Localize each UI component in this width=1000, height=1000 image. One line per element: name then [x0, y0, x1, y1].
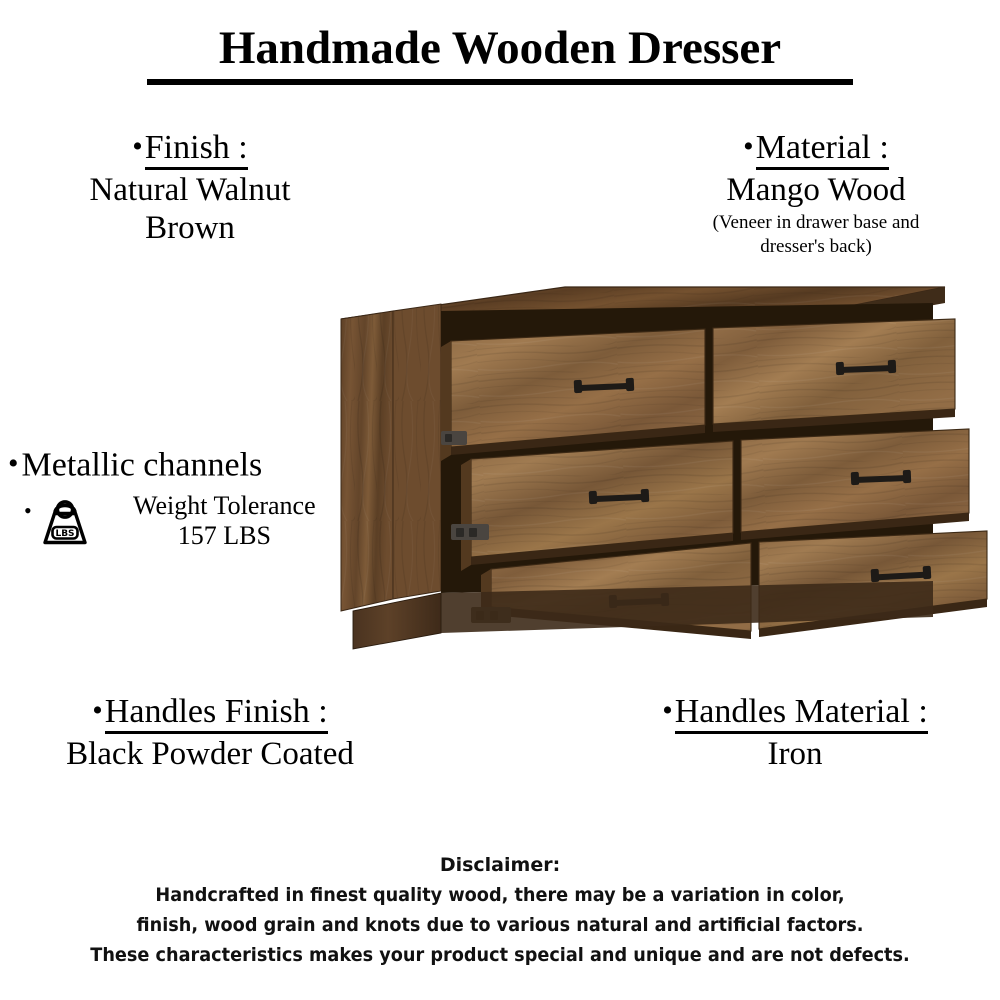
- product-image-dresser: [333, 281, 1000, 653]
- dresser-side-panel: [341, 304, 441, 611]
- feature-finish-value-line1: Natural Walnut: [10, 171, 370, 209]
- disclaimer-line-2: finish, wood grain and knots due to vari…: [35, 910, 965, 940]
- feature-material-label: Material :: [756, 129, 889, 170]
- feature-handles-material-label: Handles Material :: [675, 693, 928, 734]
- feature-finish-value-line2: Brown: [10, 209, 370, 247]
- feature-finish-heading: •Finish :: [10, 128, 370, 167]
- weight-tolerance-label: Weight Tolerance: [96, 491, 353, 521]
- drawer-middle-right: [741, 429, 969, 540]
- feature-channels-label: Metallic channels: [22, 446, 263, 483]
- disclaimer-line-3: These characteristics makes your product…: [35, 940, 965, 970]
- disclaimer-line-1: Handcrafted in finest quality wood, ther…: [35, 880, 965, 910]
- feature-material-value: Mango Wood: [636, 171, 996, 209]
- metal-slide: [441, 431, 467, 445]
- weight-icon-text: LBS: [55, 529, 74, 539]
- feature-material-note-line2: dresser's back): [636, 235, 996, 259]
- feature-handles-finish: •Handles Finish : Black Powder Coated: [0, 692, 420, 773]
- bullet-icon: •: [92, 694, 105, 727]
- weight-icon: LBS: [38, 496, 92, 546]
- weight-tolerance-row: • LBS Weight Tolerance 157 LBS: [8, 491, 353, 551]
- feature-material-heading: •Material :: [636, 128, 996, 167]
- disclaimer-title: Disclaimer:: [0, 850, 1000, 880]
- feature-material: •Material : Mango Wood (Veneer in drawer…: [636, 128, 996, 259]
- bullet-icon: •: [8, 447, 22, 480]
- feature-handles-material-heading: •Handles Material :: [600, 692, 990, 731]
- title-block: Handmade Wooden Dresser: [0, 22, 1000, 85]
- bullet-icon: •: [662, 694, 675, 727]
- feature-handles-finish-value: Black Powder Coated: [0, 735, 420, 773]
- disclaimer-block: Disclaimer: Handcrafted in finest qualit…: [0, 850, 1000, 970]
- feature-channels-heading: •Metallic channels: [8, 444, 353, 485]
- weight-tolerance-value: 157 LBS: [96, 521, 353, 551]
- feature-metallic-channels: •Metallic channels • LBS Weight Toleranc…: [8, 444, 353, 551]
- feature-material-note-line1: (Veneer in drawer base and: [636, 211, 996, 235]
- bullet-icon: •: [743, 130, 756, 163]
- page-title: Handmade Wooden Dresser: [0, 22, 1000, 74]
- bullet-icon: •: [24, 491, 38, 531]
- feature-finish-label: Finish :: [145, 129, 248, 170]
- feature-handles-finish-heading: •Handles Finish :: [0, 692, 420, 731]
- bullet-icon: •: [132, 130, 145, 163]
- feature-handles-finish-label: Handles Finish :: [105, 693, 328, 734]
- feature-handles-material-value: Iron: [600, 735, 990, 773]
- drawer-top-right: [713, 319, 955, 432]
- weight-tolerance-text: Weight Tolerance 157 LBS: [92, 491, 353, 551]
- feature-handles-material: •Handles Material : Iron: [600, 692, 990, 773]
- feature-finish: •Finish : Natural Walnut Brown: [10, 128, 370, 247]
- title-underline-rule: [147, 79, 853, 85]
